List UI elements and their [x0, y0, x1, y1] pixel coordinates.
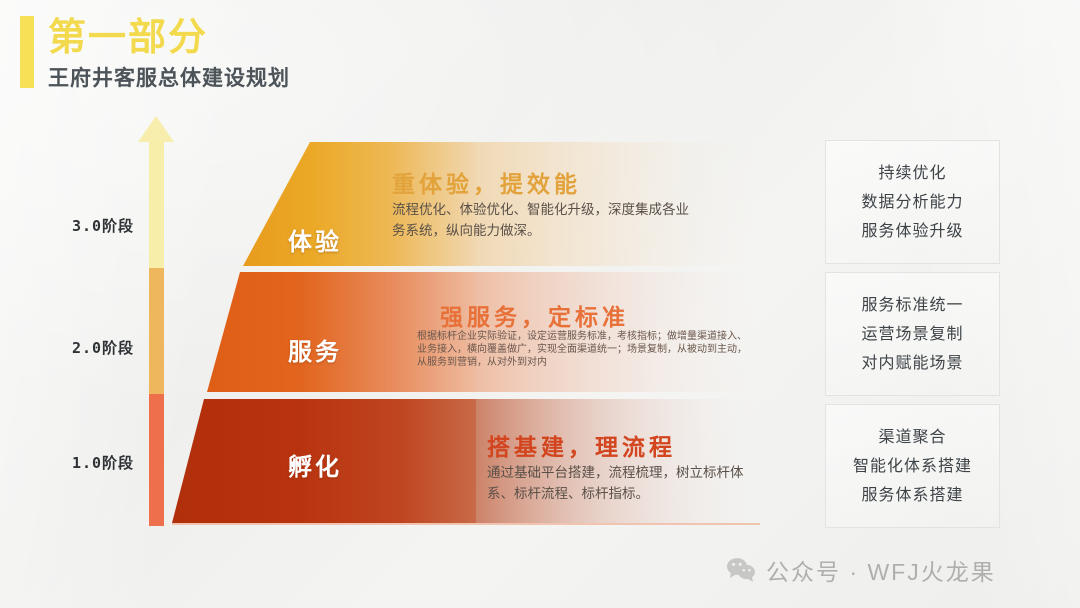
- stage-label-1: 1.0阶段: [48, 452, 158, 473]
- watermark-text: 公众号 · WFJ火龙果: [766, 553, 996, 587]
- tier-body-bottom: 通过基础平台搭建，流程梳理，树立标杆体系、标杆流程、标杆指标。: [487, 463, 757, 505]
- outcome-line: 数据分析能力: [861, 188, 963, 217]
- stage-label-2: 2.0阶段: [48, 337, 158, 358]
- tier-heading-middle: 强服务，定标准: [440, 298, 629, 332]
- outcome-line: 对内赋能场景: [861, 349, 963, 378]
- outcome-line: 渠道聚合: [878, 423, 946, 452]
- tier-body-middle: 根据标杆企业实际验证，设定运营服务标准，考核指标；做增量渠道接入、业务接入，横向…: [417, 330, 747, 369]
- page-title: 第一部分: [48, 12, 290, 64]
- arrow-up-icon: [138, 116, 174, 142]
- wechat-icon: [726, 557, 756, 583]
- stage-label-3: 3.0阶段: [48, 215, 158, 236]
- outcome-box-stage1: 渠道聚合 智能化体系搭建 服务体系搭建: [825, 404, 1000, 528]
- page-subtitle: 王府井客服总体建设规划: [48, 66, 290, 92]
- outcome-line: 运营场景复制: [861, 320, 963, 349]
- watermark: 公众号 · WFJ火龙果: [726, 553, 996, 587]
- outcome-line: 服务体系搭建: [861, 481, 963, 510]
- outcome-box-stage2: 服务标准统一 运营场景复制 对内赋能场景: [825, 272, 1000, 396]
- tier-label-bottom: 孵化: [288, 447, 342, 482]
- outcome-line: 服务体验升级: [861, 217, 963, 246]
- tier-label-middle: 服务: [288, 332, 342, 367]
- tier-body-top: 流程优化、体验优化、智能化升级，深度集成各业务系统，纵向能力做深。: [392, 200, 692, 242]
- tier-heading-bottom: 搭基建，理流程: [487, 428, 676, 462]
- axis-segment-stage3: [149, 142, 164, 268]
- outcome-line: 服务标准统一: [861, 291, 963, 320]
- outcome-line: 持续优化: [878, 159, 946, 188]
- axis-segment-stage2: [149, 268, 164, 394]
- outcome-box-stage3: 持续优化 数据分析能力 服务体验升级: [825, 140, 1000, 264]
- title-accent-bar: [20, 16, 34, 88]
- tier-label-top: 体验: [288, 222, 342, 257]
- outcome-line: 智能化体系搭建: [853, 452, 972, 481]
- slide-canvas: 第一部分 王府井客服总体建设规划 3.0阶段 2.0阶段 1.0阶段: [0, 0, 1080, 608]
- title-block: 第一部分 王府井客服总体建设规划: [48, 12, 290, 92]
- tier-heading-top: 重体验，提效能: [392, 165, 581, 199]
